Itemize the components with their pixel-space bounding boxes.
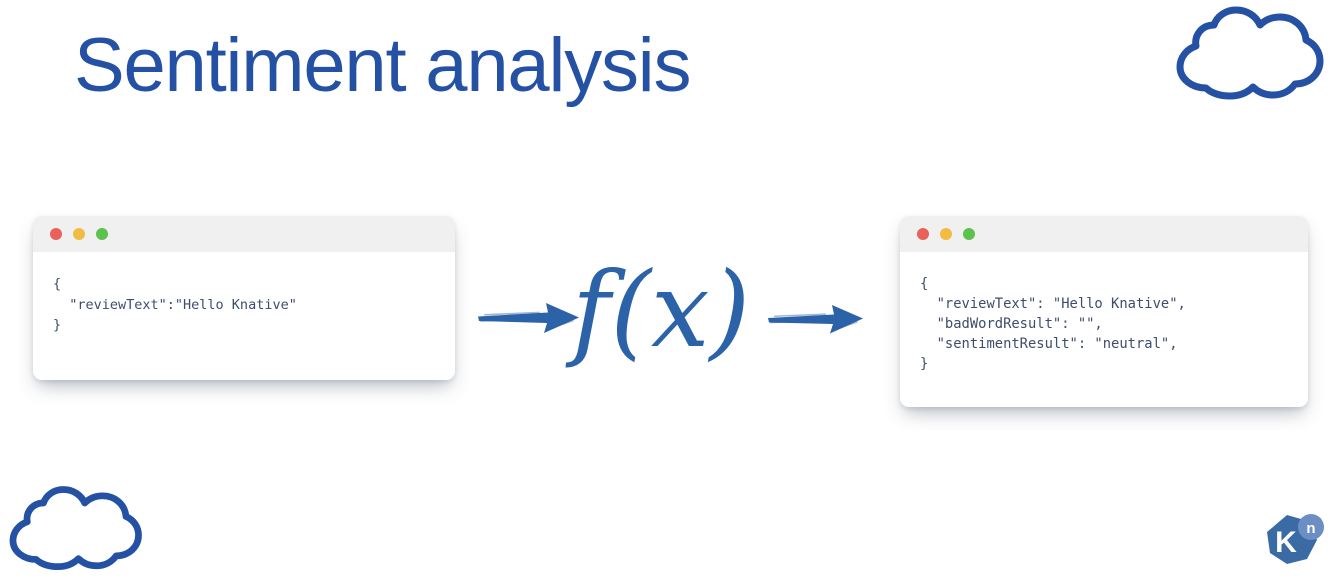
cloud-icon-bottom-left bbox=[4, 484, 143, 574]
slide-canvas: Sentiment analysis { "reviewText":"Hello… bbox=[0, 0, 1341, 585]
code-line: "reviewText":"Hello Knative" bbox=[53, 295, 435, 316]
page-title: Sentiment analysis bbox=[74, 26, 690, 106]
minimize-icon[interactable] bbox=[73, 228, 85, 240]
code-line: } bbox=[53, 315, 435, 336]
code-line: "sentimentResult": "neutral", bbox=[920, 334, 1288, 354]
minimize-icon[interactable] bbox=[940, 228, 952, 240]
window-titlebar bbox=[33, 216, 455, 252]
cloud-icon-top-right bbox=[1170, 4, 1325, 104]
knative-badge-letter-n: n bbox=[1306, 520, 1315, 537]
knative-logo: K n bbox=[1259, 511, 1327, 575]
function-symbol: f(x) bbox=[566, 240, 756, 380]
code-area: { "reviewText":"Hello Knative" } bbox=[33, 252, 455, 380]
knative-letter-k: K bbox=[1275, 526, 1297, 559]
input-json-window: { "reviewText":"Hello Knative" } bbox=[33, 216, 455, 380]
close-icon[interactable] bbox=[50, 228, 62, 240]
code-area: { "reviewText": "Hello Knative", "badWor… bbox=[900, 252, 1308, 407]
window-titlebar bbox=[900, 216, 1308, 252]
code-line: { bbox=[53, 274, 435, 295]
maximize-icon[interactable] bbox=[963, 228, 975, 240]
arrow-right-icon-output bbox=[768, 297, 864, 341]
code-line: { bbox=[920, 274, 1288, 294]
code-line: "reviewText": "Hello Knative", bbox=[920, 294, 1288, 314]
output-json-window: { "reviewText": "Hello Knative", "badWor… bbox=[900, 216, 1308, 407]
maximize-icon[interactable] bbox=[96, 228, 108, 240]
code-line: "badWordResult": "", bbox=[920, 314, 1288, 334]
arrow-right-icon-input bbox=[478, 294, 580, 342]
code-line: } bbox=[920, 354, 1288, 374]
close-icon[interactable] bbox=[917, 228, 929, 240]
